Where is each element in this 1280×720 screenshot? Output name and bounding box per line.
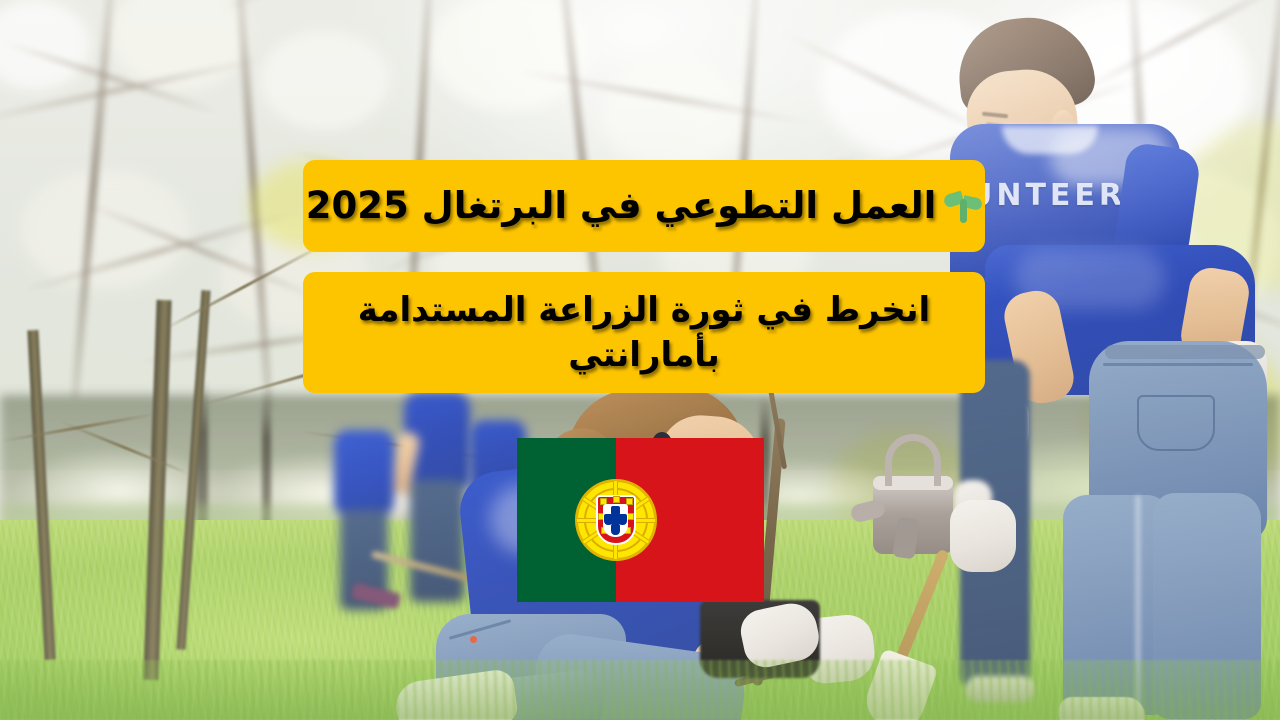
shield-escutcheon [603,504,628,537]
portugal-coat-of-arms [575,479,657,561]
grass-foreground [0,660,1280,720]
subtitle-banner: انخرط في ثورة الزراعة المستدامة بأمارانت… [303,272,985,393]
portugal-flag [517,438,764,602]
volunteer-shirt-text: UNTEER [968,178,1128,213]
watering-can [865,458,963,554]
title-banner: العمل التطوعي في البرتغال 2025 [303,160,985,252]
garden-glove [950,500,1016,572]
poster-title: العمل التطوعي في البرتغال 2025 [306,185,937,228]
poster-canvas: UNTEER [0,0,1280,720]
volunteer-background-left-2 [330,430,400,610]
poster-subtitle: انخرط في ثورة الزراعة المستدامة بأمارانت… [321,288,967,376]
seedling-icon [946,189,980,223]
